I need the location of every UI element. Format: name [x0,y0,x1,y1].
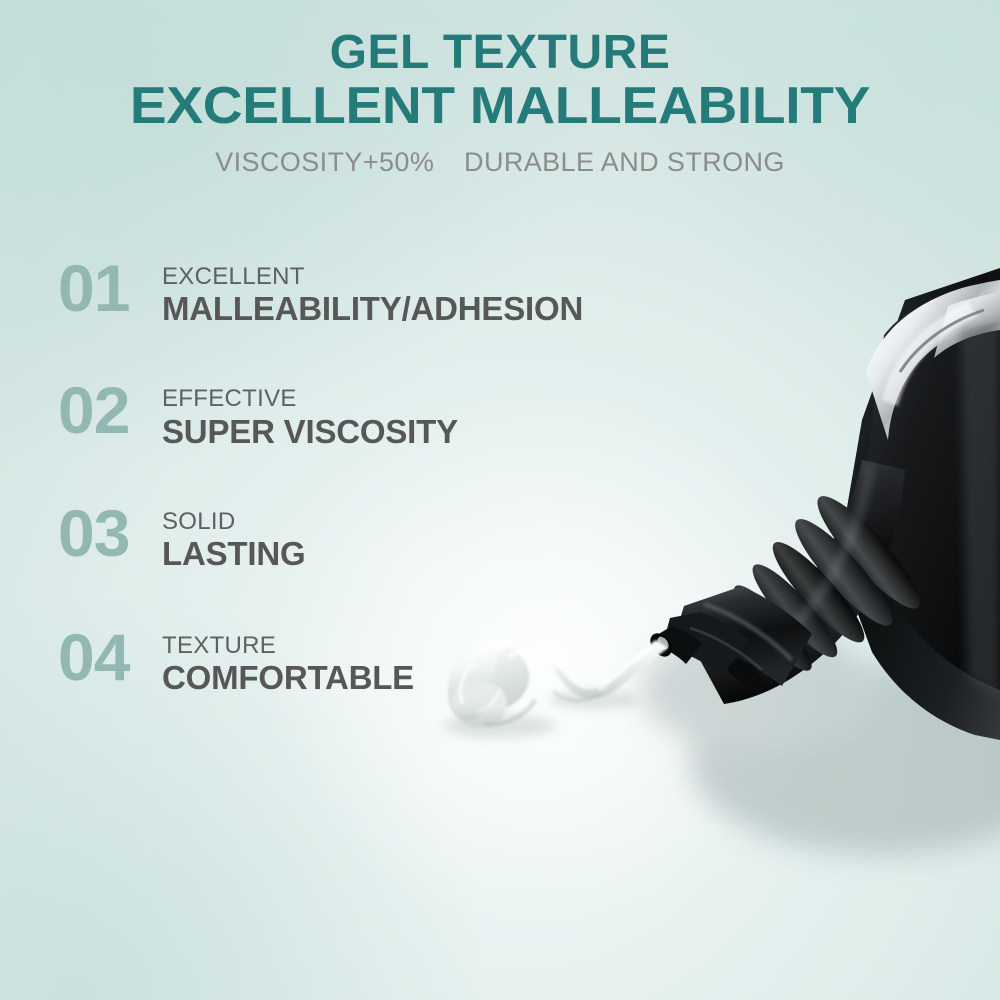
product-feature-banner: GEL TEXTURE EXCELLENT MALLEABILITY VISCO… [0,0,1000,1000]
feature-item-04: 04 TEXTURE COMFORTABLE [58,631,758,697]
feature-title-01: MALLEABILITY/ADHESION [162,291,758,328]
header: GEL TEXTURE EXCELLENT MALLEABILITY VISCO… [0,28,1000,178]
page-title-line-1: GEL TEXTURE [0,28,1000,79]
subtitle-durable: DURABLE AND STRONG [464,147,785,177]
feature-title-04: COMFORTABLE [162,660,758,697]
feature-text-01: EXCELLENT MALLEABILITY/ADHESION [162,262,758,328]
feature-subtitle-02: EFFECTIVE [162,386,758,412]
feature-subtitle-03: SOLID [162,509,758,535]
page-subtitle: VISCOSITY+50% DURABLE AND STRONG [0,147,1000,178]
feature-item-02: 02 EFFECTIVE SUPER VISCOSITY [58,384,758,450]
page-title-line-2: EXCELLENT MALLEABILITY [0,79,1000,133]
feature-subtitle-04: TEXTURE [162,633,758,659]
feature-text-04: TEXTURE COMFORTABLE [162,631,758,697]
feature-number-03: 03 [58,501,162,566]
feature-number-04: 04 [58,625,162,690]
feature-number-02: 02 [58,378,162,443]
feature-subtitle-01: EXCELLENT [162,264,758,290]
feature-list: 01 EXCELLENT MALLEABILITY/ADHESION 02 EF… [58,262,758,697]
feature-title-03: LASTING [162,536,758,573]
feature-text-03: SOLID LASTING [162,507,758,573]
feature-item-03: 03 SOLID LASTING [58,507,758,573]
subtitle-viscosity: VISCOSITY+50% [215,147,434,177]
feature-text-02: EFFECTIVE SUPER VISCOSITY [162,384,758,450]
feature-number-01: 01 [58,256,162,321]
feature-title-02: SUPER VISCOSITY [162,414,758,451]
feature-item-01: 01 EXCELLENT MALLEABILITY/ADHESION [58,262,758,328]
